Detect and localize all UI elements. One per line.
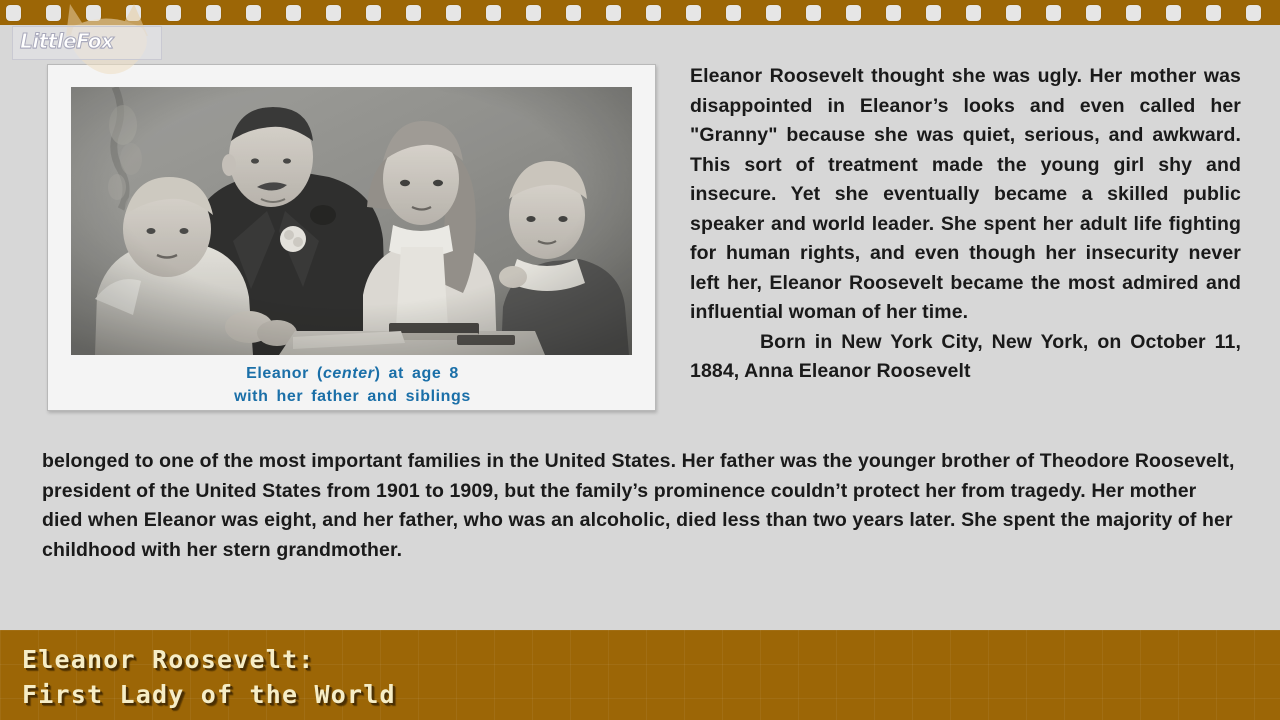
caption-line-1: Eleanor (center) at age 8 bbox=[48, 362, 657, 385]
filmstrip-perforation bbox=[526, 5, 541, 21]
photo-illustration bbox=[71, 87, 632, 355]
filmstrip-perforation bbox=[846, 5, 861, 21]
filmstrip-perforation bbox=[686, 5, 701, 21]
filmstrip-perforations bbox=[6, 5, 1280, 21]
filmstrip-perforation bbox=[1086, 5, 1101, 21]
caption-line1-italic: center bbox=[323, 365, 375, 382]
filmstrip-perforation bbox=[806, 5, 821, 21]
paragraph-two-start: Born in New York City, New York, on Octo… bbox=[690, 328, 1241, 387]
filmstrip-perforation bbox=[966, 5, 981, 21]
brand-logo[interactable]: LittleFox bbox=[8, 18, 168, 70]
filmstrip-perforation bbox=[286, 5, 301, 21]
figure-caption: Eleanor (center) at age 8 with her fathe… bbox=[48, 362, 657, 408]
caption-line1-post: ) at age 8 bbox=[375, 365, 459, 382]
paragraph-one: Eleanor Roosevelt thought she was ugly. … bbox=[690, 62, 1241, 328]
filmstrip-perforation bbox=[766, 5, 781, 21]
filmstrip-perforation bbox=[406, 5, 421, 21]
filmstrip-perforation bbox=[166, 5, 181, 21]
figure-photo-frame: Eleanor (center) at age 8 with her fathe… bbox=[47, 64, 656, 411]
filmstrip-perforation bbox=[366, 5, 381, 21]
filmstrip-perforation bbox=[566, 5, 581, 21]
caption-line-2: with her father and siblings bbox=[48, 385, 657, 408]
filmstrip-perforation bbox=[726, 5, 741, 21]
caption-line1-pre: Eleanor ( bbox=[246, 365, 323, 382]
article-full-width-block: belonged to one of the most important fa… bbox=[42, 447, 1241, 565]
filmstrip-perforation bbox=[446, 5, 461, 21]
lesson-title: Eleanor Roosevelt: First Lady of the Wor… bbox=[22, 642, 396, 712]
historical-photograph bbox=[71, 87, 632, 355]
filmstrip-perforation bbox=[486, 5, 501, 21]
filmstrip-perforation bbox=[886, 5, 901, 21]
footer-title-bar: Eleanor Roosevelt: First Lady of the Wor… bbox=[0, 630, 1280, 720]
filmstrip-perforation bbox=[1166, 5, 1181, 21]
filmstrip-perforation bbox=[1206, 5, 1221, 21]
filmstrip-top-decoration bbox=[0, 0, 1280, 25]
paragraph-two-rest: belonged to one of the most important fa… bbox=[42, 447, 1241, 565]
filmstrip-perforation bbox=[246, 5, 261, 21]
filmstrip-perforation bbox=[926, 5, 941, 21]
filmstrip-perforation bbox=[646, 5, 661, 21]
filmstrip-perforation bbox=[1246, 5, 1261, 21]
filmstrip-perforation bbox=[326, 5, 341, 21]
filmstrip-perforation bbox=[1046, 5, 1061, 21]
logo-text: LittleFox bbox=[20, 29, 113, 53]
filmstrip-perforation bbox=[206, 5, 221, 21]
article-right-column: Eleanor Roosevelt thought she was ugly. … bbox=[690, 62, 1241, 387]
filmstrip-perforation bbox=[1126, 5, 1141, 21]
filmstrip-perforation bbox=[1006, 5, 1021, 21]
filmstrip-perforation bbox=[606, 5, 621, 21]
